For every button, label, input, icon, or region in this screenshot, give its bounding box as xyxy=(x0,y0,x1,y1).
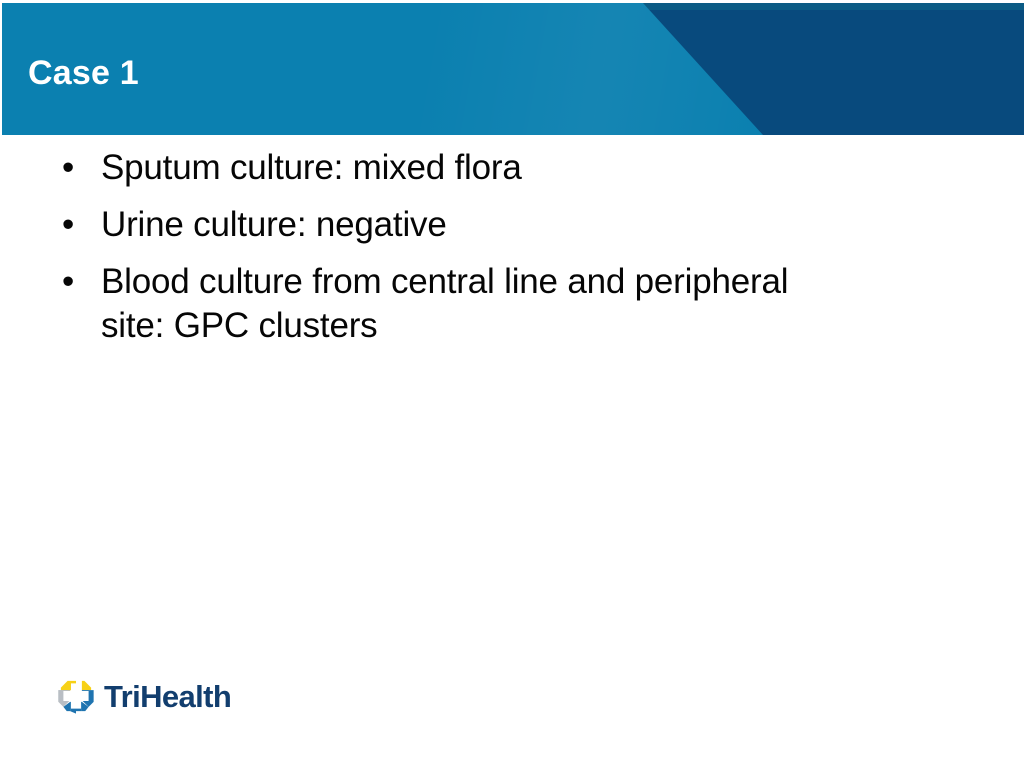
list-item: • Urine culture: negative xyxy=(58,203,938,248)
header-underline-rule xyxy=(0,135,1024,137)
list-item-text: Blood culture from central line and peri… xyxy=(101,260,801,350)
presentation-slide: Case 1 • Sputum culture: mixed flora • U… xyxy=(0,0,1024,768)
list-item-text: Sputum culture: mixed flora xyxy=(101,146,801,191)
trihealth-logo: TriHealth xyxy=(55,673,231,719)
bullet-marker-icon: • xyxy=(62,260,82,305)
trihealth-wordmark: TriHealth xyxy=(104,681,231,712)
list-item-text: Urine culture: negative xyxy=(101,203,801,248)
bullet-marker-icon: • xyxy=(62,203,82,248)
bullet-list: • Sputum culture: mixed flora • Urine cu… xyxy=(58,146,938,349)
slide-header-band xyxy=(0,0,1024,137)
bullet-marker-icon: • xyxy=(62,146,82,191)
trihealth-cross-logo-icon xyxy=(55,675,97,717)
page-title: Case 1 xyxy=(28,56,139,92)
list-item: • Sputum culture: mixed flora xyxy=(58,146,938,191)
list-item: • Blood culture from central line and pe… xyxy=(58,260,938,350)
